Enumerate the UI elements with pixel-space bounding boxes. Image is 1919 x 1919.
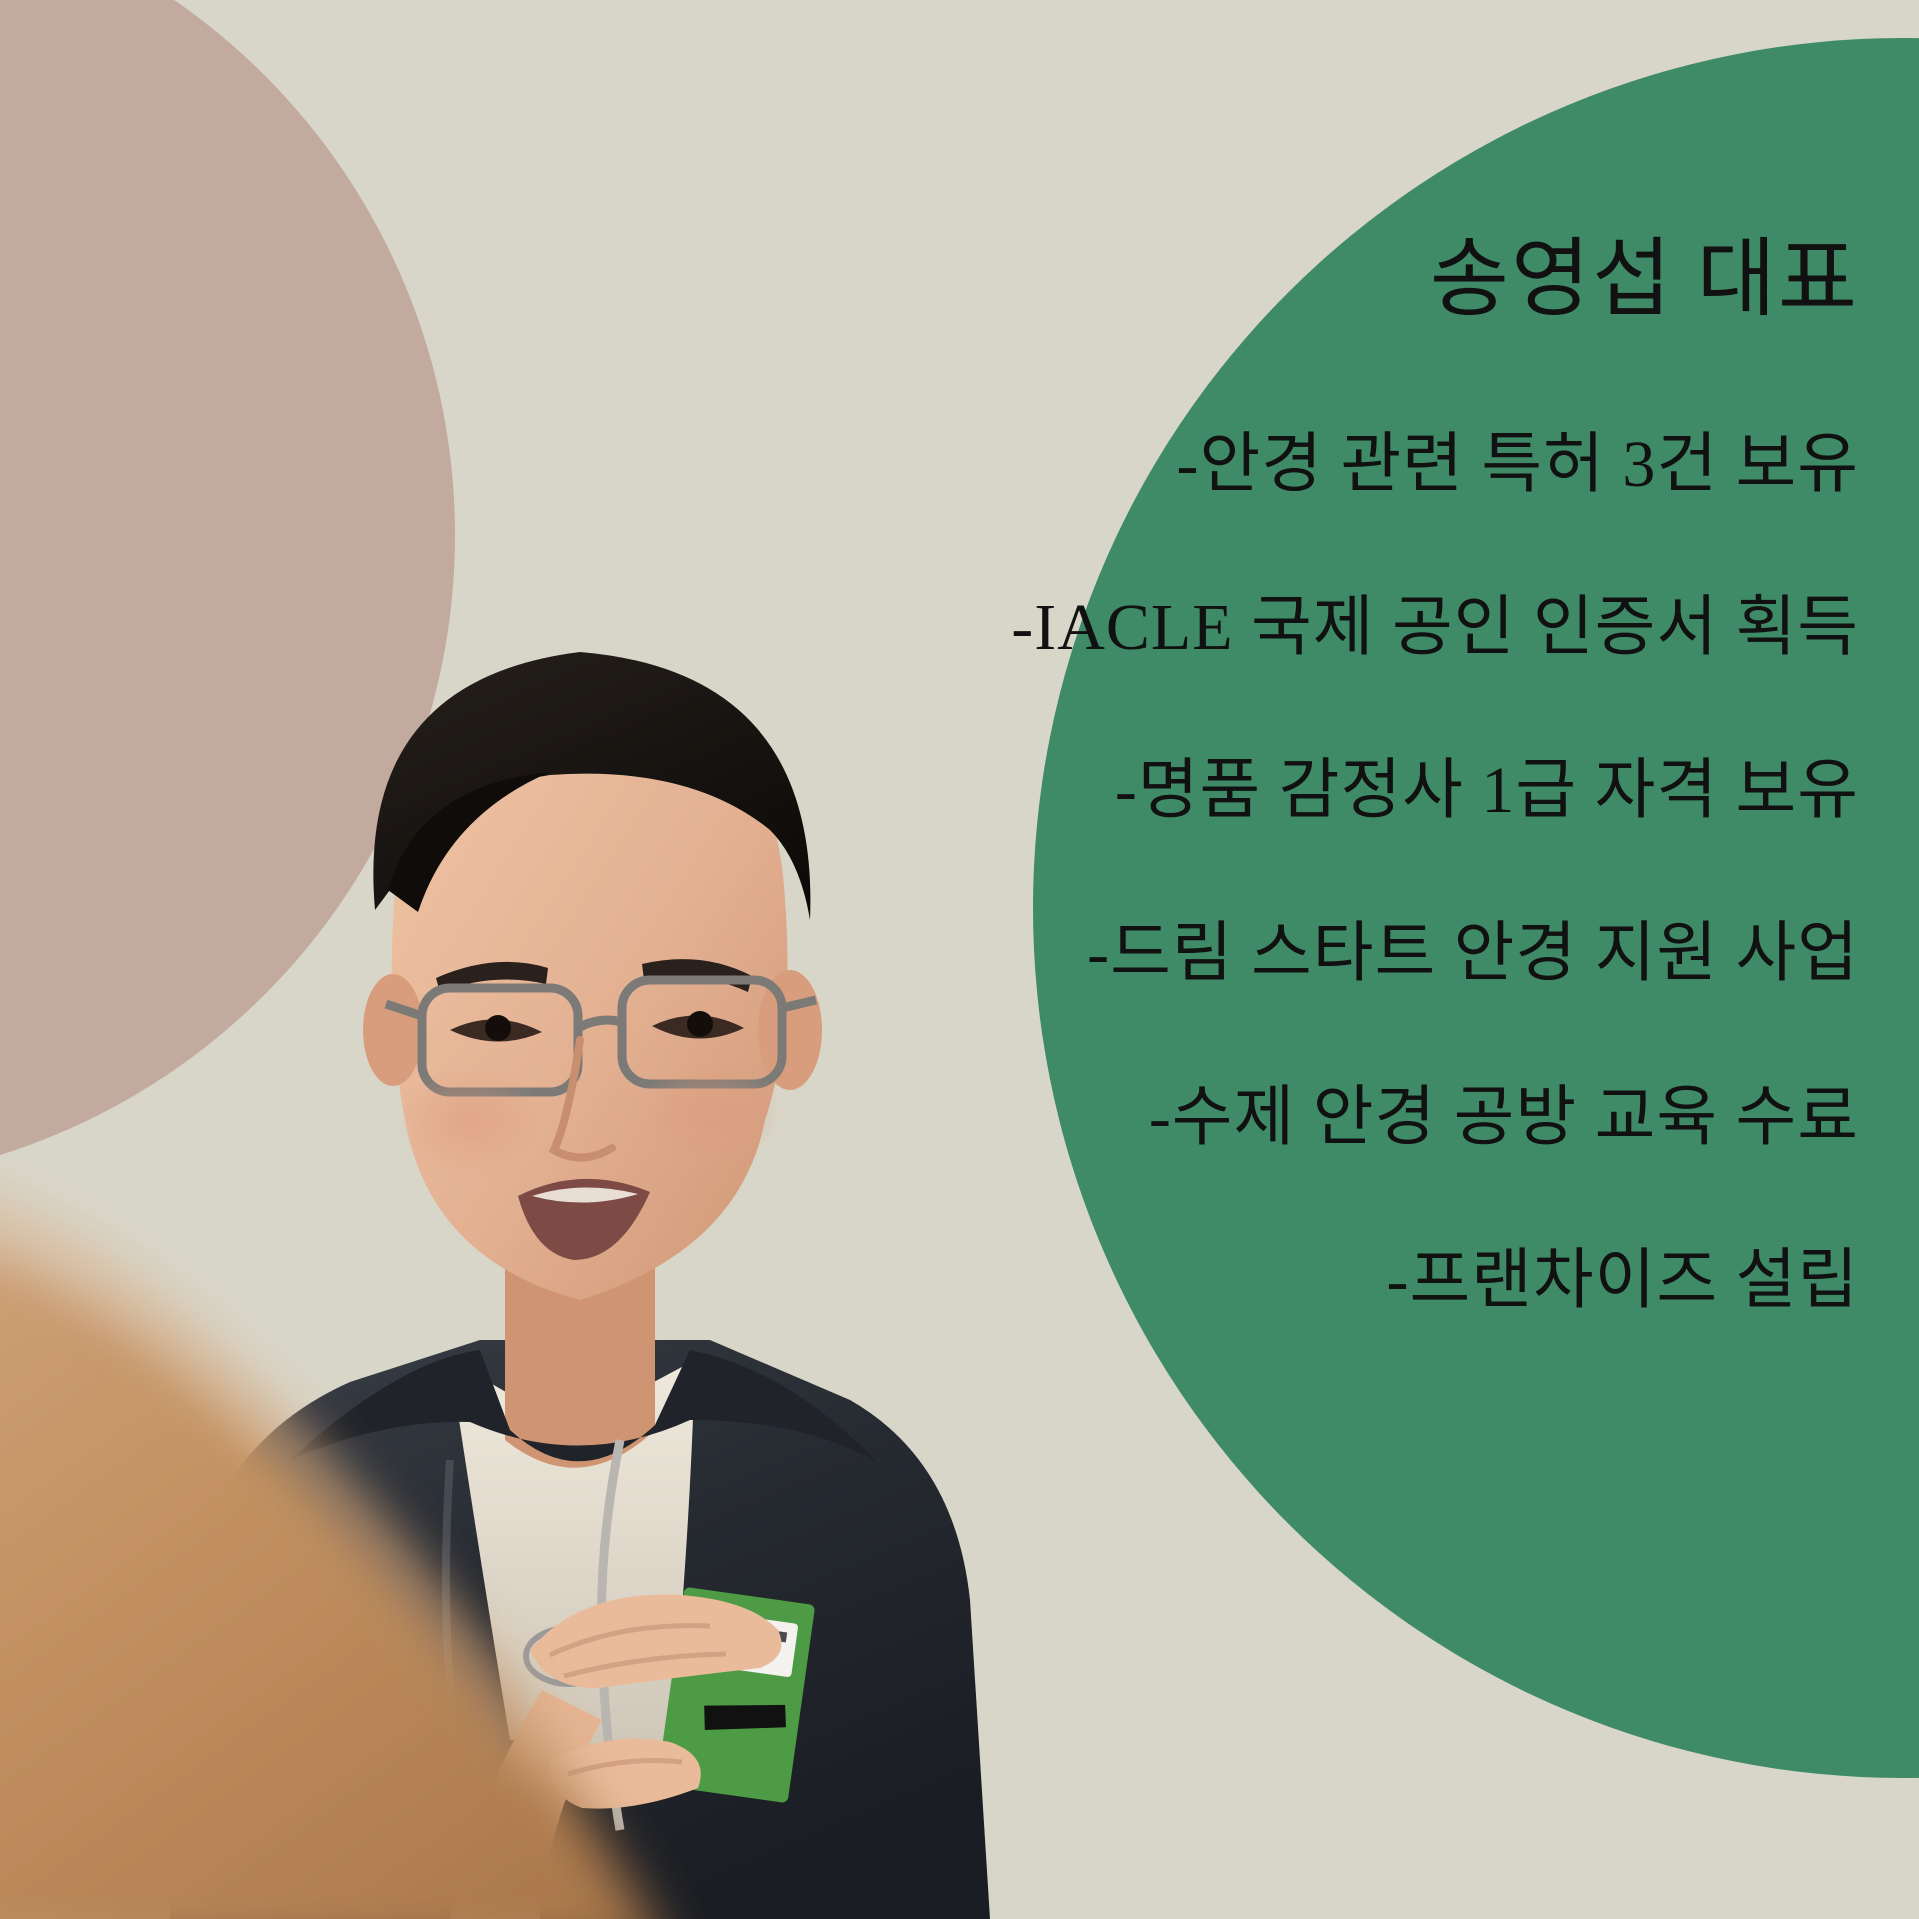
cheek-left [396, 1066, 544, 1174]
ear-left [363, 974, 423, 1086]
list-item: -수제 안경 공방 교육 수료 [859, 1078, 1859, 1157]
list-item: -드림 스타트 안경 지원 사업 [859, 914, 1859, 993]
list-item: -안경 관련 특허 3건 보유 [859, 425, 1859, 504]
cheek-right [636, 1058, 784, 1166]
poster-canvas: 송영섭 대표 -안경 관련 특허 3건 보유 -IACLE 국제 공인 인증서 … [0, 0, 1919, 1919]
pupil-right [687, 1011, 713, 1037]
credential-list: -안경 관련 특허 3건 보유 -IACLE 국제 공인 인증서 획득 -명품 … [859, 425, 1859, 1320]
list-item: -명품 감정사 1급 자격 보유 [859, 751, 1859, 830]
profile-text-panel: 송영섭 대표 -안경 관련 특허 3건 보유 -IACLE 국제 공인 인증서 … [859, 230, 1859, 1320]
hoodie-drawstring-left [446, 1460, 450, 1690]
page-title: 송영섭 대표 [859, 230, 1859, 329]
pupil-left [485, 1015, 511, 1041]
list-item: -IACLE 국제 공인 인증서 획득 [859, 588, 1859, 667]
list-item: -프랜차이즈 설립 [859, 1241, 1859, 1320]
